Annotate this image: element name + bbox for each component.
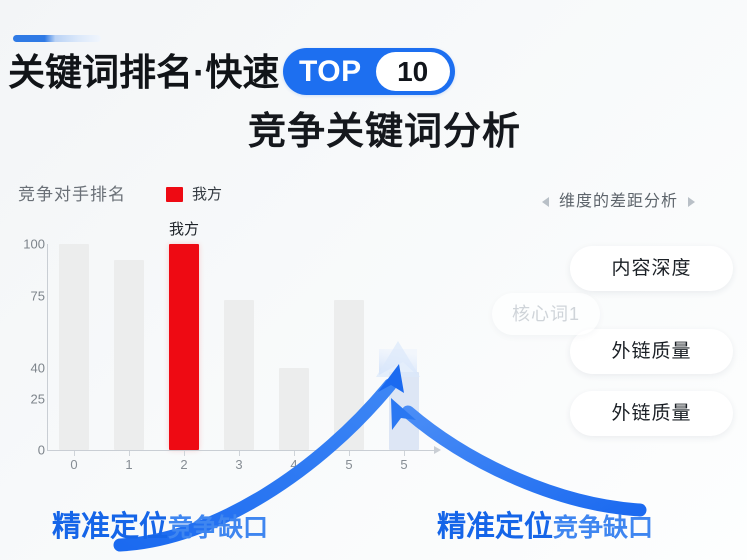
dimension-pill[interactable]: 外链质量 [570,329,733,374]
x-axis-tick-mark [239,451,240,456]
x-axis-tick: 0 [59,458,89,471]
x-axis-tick: 4 [279,458,309,471]
caret-left-icon[interactable] [542,197,549,207]
x-axis-tick-mark [404,451,405,456]
top-badge-label: TOP [299,57,362,87]
poster-canvas: 关键词排名·快速 TOP 10 竞争关键词分析 竞争对手排名 我方 100754… [0,0,747,560]
x-axis-tick-mark [74,451,75,456]
bar [279,368,309,450]
legend-swatch-icon [166,187,183,202]
ghost-keyword-label: 核心词1 [512,305,580,323]
bottom-caption-right-soft: 竞争缺口 [553,516,653,541]
caret-right-icon[interactable] [688,197,695,207]
ghost-keyword-pill: 核心词1 [492,293,600,335]
x-axis-tick-mark [129,451,130,456]
dimension-panel-header: 维度的差距分析 [490,194,747,210]
top-badge-count-chip: 10 [376,52,450,91]
dimension-pill-label: 外链质量 [611,342,691,361]
headline-row: 关键词排名·快速 [8,44,279,100]
x-axis-tick: 5 [334,458,364,471]
competitor-ranking-chart: 竞争对手排名 我方 1007540250 我方 0123455 [0,186,470,486]
chart-legend: 我方 [166,187,222,202]
x-axis-line [47,450,437,451]
chart-caption: 竞争对手排名 [18,186,126,203]
bar [334,300,364,450]
headline-text: 关键词排名·快速 [8,54,279,91]
bar [59,244,89,450]
top-badge-count: 10 [397,58,428,86]
bottom-caption-right: 精准定位 竞争缺口 [437,513,653,542]
x-axis-tick: 3 [224,458,254,471]
bar [224,300,254,450]
dimension-pill[interactable]: 外链质量 [570,391,733,436]
legend-label: 我方 [192,187,222,202]
x-axis-tick: 5 [389,458,419,471]
dimension-panel-title: 维度的差距分析 [559,194,678,210]
dimension-pill-label: 内容深度 [611,259,691,278]
dimension-pill-label: 外链质量 [611,404,691,423]
x-axis-tick-mark [349,451,350,456]
bottom-caption-left-strong: 精准定位 [52,513,168,542]
chart-header: 竞争对手排名 我方 [18,186,222,203]
x-axis-tick: 2 [169,458,199,471]
x-axis-tick-mark [184,451,185,456]
bar [389,372,419,450]
bars-layer [0,230,470,450]
x-axis-tick: 1 [114,458,144,471]
plot-area: 1007540250 我方 0123455 [0,230,470,486]
dimension-pill[interactable]: 内容深度 [570,246,733,291]
accent-bar [13,35,101,42]
dimension-gap-panel: 维度的差距分析 内容深度外链质量外链质量 核心词1 [490,188,747,448]
bar-highlight [169,244,199,450]
bar [114,260,144,450]
bottom-caption-right-strong: 精准定位 [437,513,553,542]
x-axis-tick-mark [294,451,295,456]
bottom-caption-left-soft: 竞争缺口 [168,516,268,541]
top-badge: TOP 10 [283,48,455,95]
highlight-bar-label: 我方 [154,222,214,237]
page-title: 竞争关键词分析 [0,112,747,154]
x-axis-arrow-icon [434,446,441,454]
bottom-caption-left: 精准定位 竞争缺口 [52,513,268,542]
